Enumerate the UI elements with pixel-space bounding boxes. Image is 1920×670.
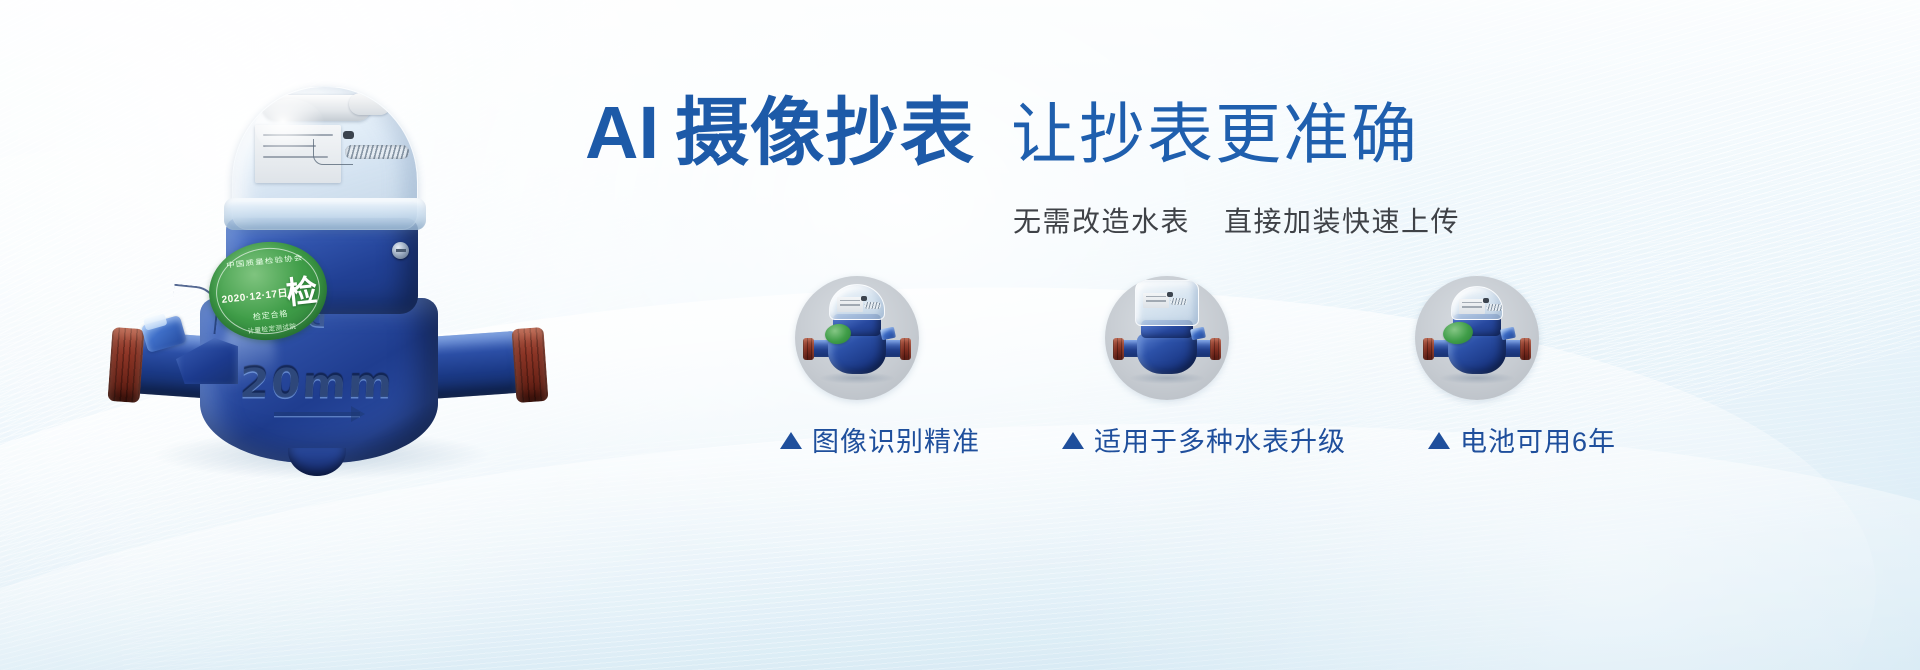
thumb-outlet-thread	[900, 338, 911, 360]
subtitle-part-2: 直接加装快速上传	[1224, 206, 1460, 237]
thumb-camera-lens-icon	[1483, 298, 1489, 303]
meter-size-marking: 20mm	[211, 358, 424, 407]
thumb-meter-body	[1137, 334, 1197, 374]
thumb-sensor-module	[1190, 327, 1206, 341]
banner-subtitle: 无需改造水表直接加装快速上传	[1013, 200, 1460, 240]
thumb-shadow	[1129, 372, 1205, 384]
thumb-meter-dome	[1451, 286, 1503, 320]
thumb-spring-coil	[864, 302, 881, 309]
thumb-outlet-thread	[1210, 338, 1221, 360]
thumb-spec-label	[837, 297, 863, 312]
headline-ai-prefix: AI	[585, 91, 659, 174]
feature-label: 适用于多种水表升级	[1094, 420, 1346, 459]
meter-screw-icon	[392, 242, 409, 259]
thumb-spec-label	[1459, 299, 1485, 314]
thumb-inlet-thread	[1423, 338, 1434, 360]
meter-dome-rim	[224, 198, 426, 230]
triangle-bullet-icon	[1428, 432, 1450, 449]
thumb-sensor-module	[1500, 327, 1516, 341]
meter-flow-arrow-icon	[274, 412, 360, 416]
meter-outlet-thread	[511, 327, 548, 403]
thumb-meter-dome	[829, 284, 885, 320]
headline-primary: AI摄像抄表	[585, 96, 975, 170]
thumb-meter-graphic	[1415, 276, 1539, 400]
thumb-outlet-thread	[1520, 338, 1531, 360]
hero-product-image: DN 20mm 中国质量检验协会 检 2020·12·17日 检定合格 计量检定	[92, 70, 562, 500]
thumbnail-battery-water-meter[interactable]	[1415, 276, 1539, 400]
banner-headline: AI摄像抄表 让抄表更准确	[585, 96, 1419, 170]
thumb-shadow	[819, 372, 895, 384]
thumbnail-camera-water-meter[interactable]	[795, 276, 919, 400]
subtitle-part-1: 无需改造水表	[1013, 206, 1190, 237]
thumb-inlet-thread	[1113, 338, 1124, 360]
thumb-meter-dome	[1135, 280, 1199, 326]
triangle-bullet-icon	[1062, 432, 1084, 449]
headline-primary-text: 摄像抄表	[675, 91, 975, 174]
triangle-bullet-icon	[780, 432, 802, 449]
thumb-inlet-thread	[803, 338, 814, 360]
thumb-meter-graphic	[1105, 276, 1229, 400]
thumb-meter-graphic	[795, 276, 919, 400]
thumb-spring-coil	[1170, 298, 1187, 305]
meter-camera-lens-icon	[343, 131, 354, 139]
feature-label-row: 图像识别精准 适用于多种水表升级 电池可用6年	[780, 420, 1616, 459]
thumb-sensor-module	[880, 327, 896, 341]
thumb-camera-lens-icon	[1167, 292, 1173, 297]
feature-label: 电池可用6年	[1460, 420, 1616, 459]
headline-secondary: 让抄表更准确	[1011, 101, 1419, 170]
thumbnail-clear-housing-water-meter[interactable]	[1105, 276, 1229, 400]
thumb-camera-lens-icon	[861, 296, 867, 301]
meter-dome-highlight	[255, 99, 325, 155]
feature-item-meter-compatibility: 适用于多种水表升级	[1062, 420, 1346, 459]
background-line-fan-right	[1080, 0, 1920, 543]
meter-inlet-thread	[107, 327, 144, 403]
feature-item-image-recognition: 图像识别精准	[780, 420, 980, 459]
meter-register-roller-secondary	[349, 93, 391, 115]
product-thumbnail-row	[795, 276, 1539, 400]
meter-spring-coil	[345, 145, 409, 159]
feature-label: 图像识别精准	[812, 420, 980, 459]
feature-item-battery-life: 电池可用6年	[1428, 420, 1616, 459]
product-banner: DN 20mm 中国质量检验协会 检 2020·12·17日 检定合格 计量检定	[0, 0, 1920, 670]
thumb-spec-label	[1143, 293, 1169, 308]
thumb-spring-coil	[1486, 304, 1503, 311]
thumb-shadow	[1439, 372, 1515, 384]
